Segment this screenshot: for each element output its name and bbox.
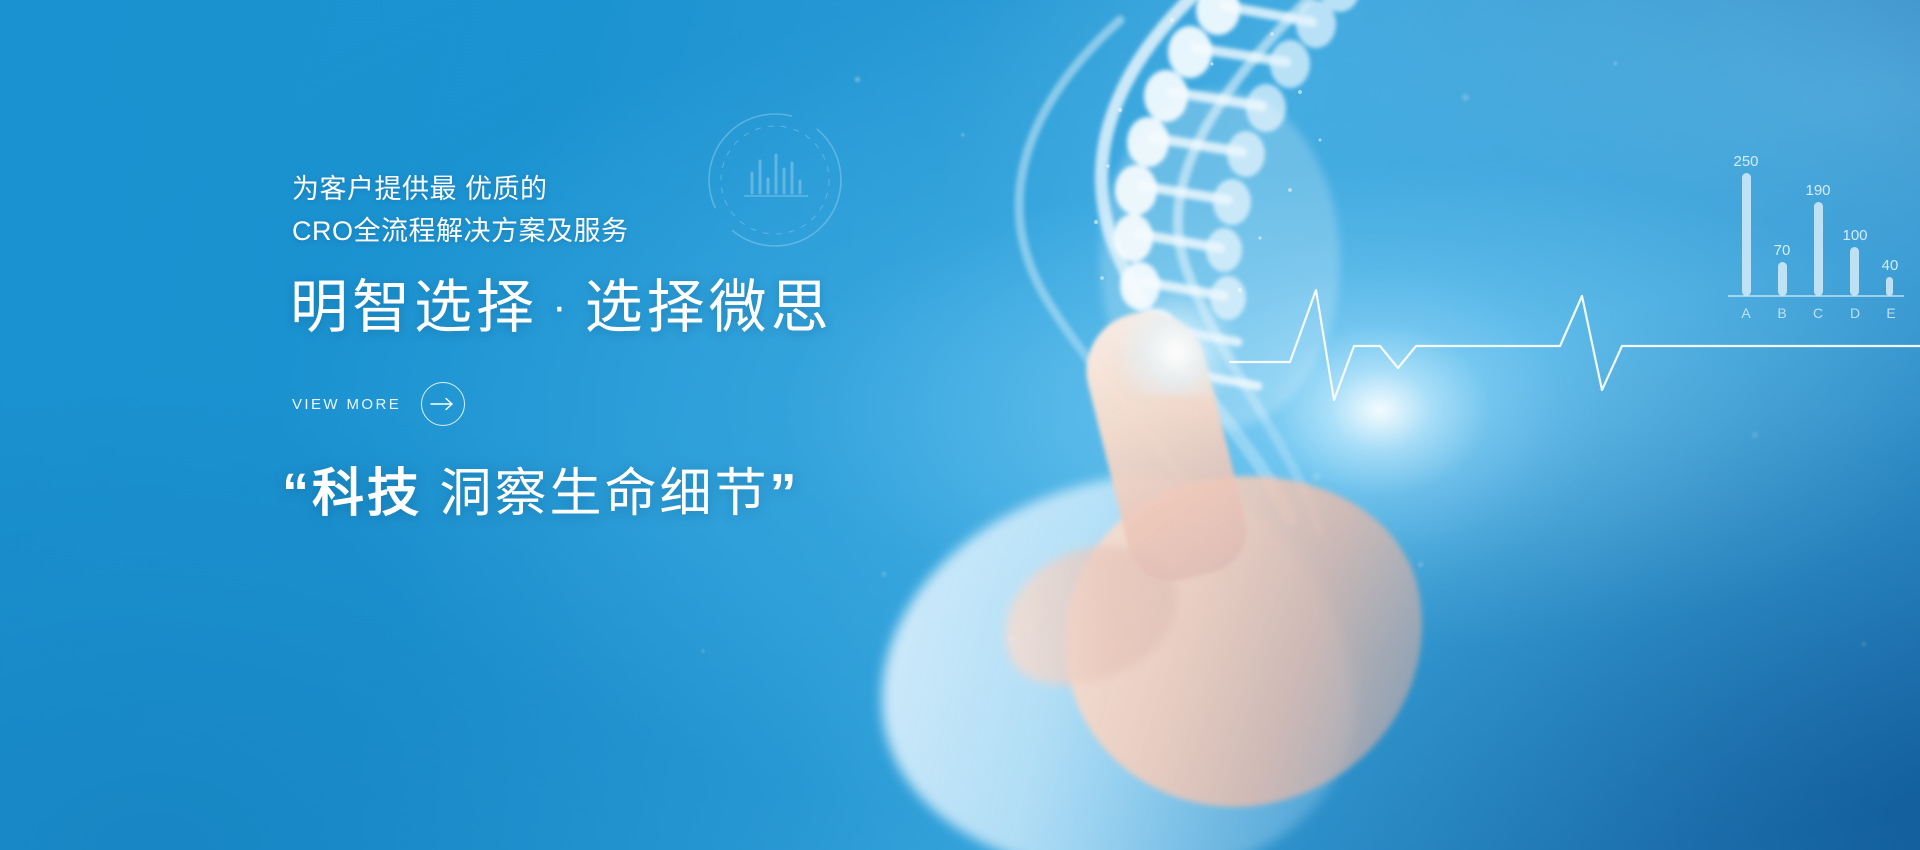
hero-content: 为客户提供最 优质的 CRO全流程解决方案及服务 明智选择·选择微思 VIEW … xyxy=(290,0,930,850)
quote-light-text: 洞察生命细节 xyxy=(422,465,769,523)
headline-separator: · xyxy=(538,282,585,331)
value-label-E: 40 xyxy=(1882,257,1899,274)
quote-close-mark: ” xyxy=(769,463,799,523)
bar-B xyxy=(1778,262,1787,296)
category-label-C: C xyxy=(1813,305,1823,321)
bar-chart: 250 70 190 100 40 A B C D E xyxy=(1716,150,1916,330)
hero-subtitle-line2: CRO全流程解决方案及服务 xyxy=(292,210,629,252)
bar-A xyxy=(1742,173,1751,296)
category-label-E: E xyxy=(1886,305,1895,321)
category-label-B: B xyxy=(1777,305,1786,321)
arrow-right-icon xyxy=(430,397,456,411)
hero-quote: “科技 洞察生命细节” xyxy=(282,455,799,532)
fingertip-glow xyxy=(1116,286,1236,396)
value-label-A: 250 xyxy=(1733,153,1758,170)
value-label-C: 190 xyxy=(1805,182,1830,199)
quote-strong-text: 科技 xyxy=(312,465,422,523)
headline-part-1: 明智选择 xyxy=(290,275,538,340)
hero-subtitle: 为客户提供最 优质的 CRO全流程解决方案及服务 xyxy=(292,168,629,252)
view-more-button[interactable]: VIEW MORE xyxy=(292,382,465,426)
quote-open-mark: “ xyxy=(282,463,312,523)
headline-part-2: 选择微思 xyxy=(585,275,833,340)
chart-category-labels: A B C D E xyxy=(1741,305,1895,321)
bar-chart-svg: 250 70 190 100 40 A B C D E xyxy=(1716,150,1916,330)
hero-banner: 250 70 190 100 40 A B C D E xyxy=(0,0,1920,850)
value-label-B: 70 xyxy=(1774,242,1791,259)
value-label-D: 100 xyxy=(1842,227,1867,244)
category-label-A: A xyxy=(1741,305,1751,321)
view-more-label: VIEW MORE xyxy=(292,396,401,413)
hero-subtitle-line1: 为客户提供最 优质的 xyxy=(292,168,629,210)
bar-C xyxy=(1814,202,1823,296)
bar-D xyxy=(1850,247,1859,296)
category-label-D: D xyxy=(1850,305,1860,321)
hero-headline: 明智选择·选择微思 xyxy=(290,272,833,343)
bar-E xyxy=(1886,277,1893,296)
view-more-circle[interactable] xyxy=(421,382,465,426)
